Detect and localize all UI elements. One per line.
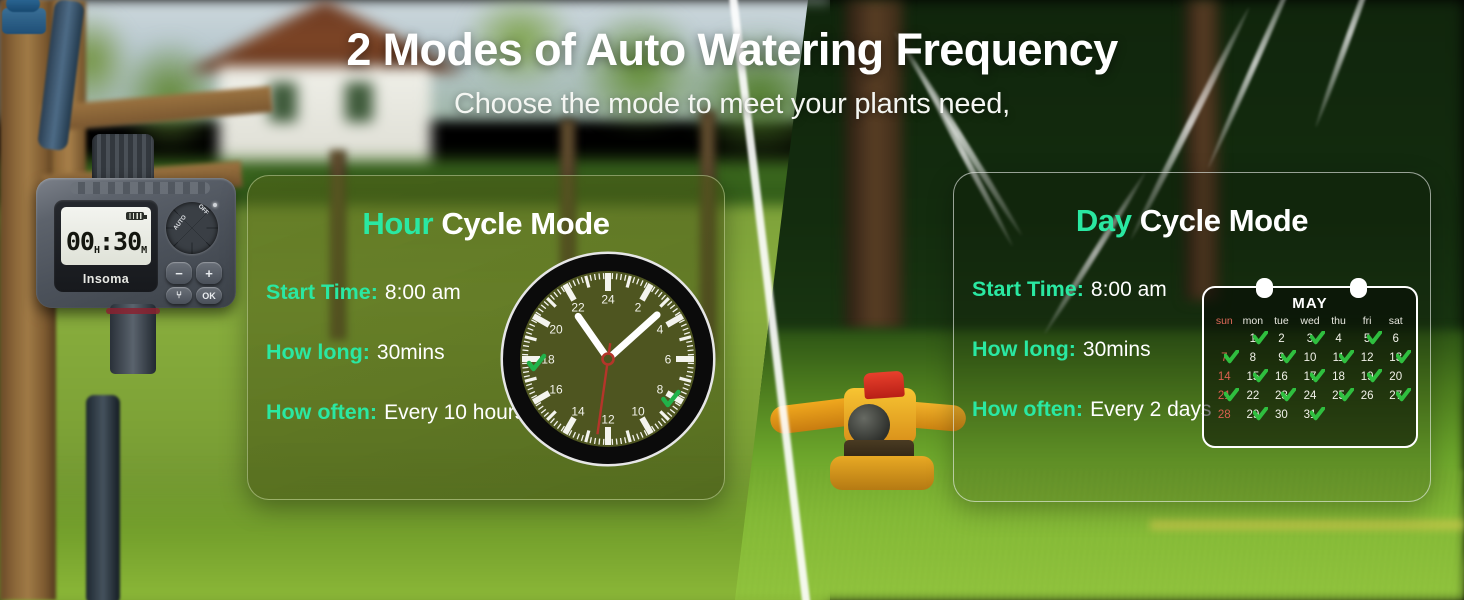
lcd-minutes-unit: M [141, 245, 146, 256]
calendar-day-cell[interactable]: 18 [1324, 368, 1353, 387]
calendar-day-number: 21 [1218, 390, 1231, 402]
calendar-day-number: 1 [1250, 333, 1256, 345]
calendar-day-cell[interactable]: 27 [1381, 387, 1410, 406]
outlet-connector [110, 304, 156, 374]
calendar-day-number: 5 [1364, 333, 1370, 345]
calendar-day-cell[interactable]: 1 [1239, 330, 1268, 349]
grass-highlight-strip [1150, 520, 1464, 530]
page-title: 2 Modes of Auto Watering Frequency [0, 24, 1464, 76]
card-title-rest: Cycle Mode [1132, 203, 1308, 238]
calendar-day-cell[interactable]: 22 [1239, 387, 1268, 406]
calendar-day-number: 20 [1389, 371, 1402, 383]
day-cycle-mode-card: Day Cycle Mode Start Time: 8:00 am How l… [953, 172, 1431, 502]
calendar-binder-dot [1256, 278, 1273, 298]
calendar-day-cell[interactable]: 6 [1381, 330, 1410, 349]
battery-icon [126, 212, 144, 220]
calendar-day-number: 25 [1332, 390, 1345, 402]
row-label: How long: [266, 340, 370, 365]
sprinkler-cap [863, 371, 905, 400]
calendar-day-cell[interactable]: 20 [1381, 368, 1410, 387]
clock-hour-label: 6 [665, 353, 672, 367]
calendar-weekday-header: wed [1296, 315, 1325, 330]
calendar-day-number: 17 [1304, 371, 1317, 383]
calendar-day-cell[interactable]: 29 [1239, 406, 1268, 425]
calendar-day-number: 10 [1304, 352, 1317, 364]
card-title-hour: Hour Cycle Mode [248, 206, 724, 242]
calendar-weekday-header: mon [1239, 315, 1268, 330]
dial-indicator-dot [213, 203, 217, 207]
row-value: 8:00 am [385, 281, 461, 305]
calendar-day-cell[interactable]: 26 [1353, 387, 1382, 406]
calendar-day-cell[interactable]: 30 [1267, 406, 1296, 425]
calendar-month-label: MAY [1204, 295, 1416, 312]
calendar-empty-cell: . [1210, 330, 1239, 349]
calendar-day-number: 11 [1333, 352, 1345, 364]
calendar-day-number: 24 [1304, 390, 1317, 402]
ok-button[interactable]: OK [196, 287, 222, 304]
calendar-day-number: 15 [1246, 371, 1259, 383]
calendar-day-cell[interactable]: 25 [1324, 387, 1353, 406]
page-subtitle: Choose the mode to meet your plants need… [0, 88, 1464, 121]
row-label: How often: [972, 397, 1083, 422]
lcd-screen: 00H:30M [61, 207, 151, 265]
row-value: 30mins [377, 341, 445, 365]
calendar-day-cell[interactable]: 12 [1353, 349, 1382, 368]
calendar-day-cell[interactable]: 17 [1296, 368, 1325, 387]
calendar-day-number: 2 [1278, 333, 1284, 345]
clock-hour-label: 20 [549, 323, 563, 337]
device-ridges [70, 182, 210, 194]
calendar-day-number: 30 [1275, 409, 1288, 421]
lcd-hours-unit: H [94, 245, 99, 256]
clock-svg: 24246810121416182022 [500, 251, 716, 467]
lcd-minutes: 30 [113, 227, 141, 256]
calendar-day-number: 22 [1246, 390, 1259, 402]
card-title-rest: Cycle Mode [433, 206, 609, 241]
clock-hour-label: 8 [657, 383, 664, 397]
row-value: 30mins [1083, 338, 1151, 362]
calendar-weekday-header: sun [1210, 315, 1239, 330]
card-title-accent: Hour [362, 206, 433, 241]
row-label: How often: [266, 400, 377, 425]
calendar-day-cell[interactable]: 5 [1353, 330, 1382, 349]
calendar-day-cell[interactable]: 14 [1210, 368, 1239, 387]
calendar-day-number: 19 [1361, 371, 1374, 383]
card-title-day: Day Cycle Mode [954, 203, 1430, 239]
sprinkler [770, 378, 970, 498]
calendar-day-cell[interactable]: 21 [1210, 387, 1239, 406]
calendar-day-number: 28 [1218, 409, 1231, 421]
calendar-day-number: 6 [1393, 333, 1399, 345]
row-value: 8:00 am [1091, 278, 1167, 302]
water-timer-device[interactable]: 00H:30M Insoma AUTO OFF − + ⑂ OK [36, 178, 236, 308]
clock-hour-label: 12 [601, 413, 615, 427]
calendar-day-number: 4 [1335, 333, 1341, 345]
calendar-day-cell[interactable]: 2 [1267, 330, 1296, 349]
calendar-day-cell[interactable]: 23 [1267, 387, 1296, 406]
marketing-banner: 00H:30M Insoma AUTO OFF − + ⑂ OK 2 Modes… [0, 0, 1464, 600]
analog-clock-24h: 24246810121416182022 [500, 251, 716, 467]
lcd-hours: 00 [66, 227, 94, 256]
calendar-day-cell[interactable]: 9 [1267, 349, 1296, 368]
clock-hour-label: 22 [571, 301, 585, 315]
calendar-day-number: 9 [1278, 352, 1284, 364]
clock-hour-label: 14 [571, 404, 585, 418]
clock-hour-label: 16 [549, 383, 563, 397]
calendar-weekday-header: thu [1324, 315, 1353, 330]
row-label: How long: [972, 337, 1076, 362]
sprinkler-base [830, 456, 934, 490]
calendar-weekday-header: tue [1267, 315, 1296, 330]
calendar-day-cell[interactable]: 11 [1324, 349, 1353, 368]
calendar-grid: sunmontuewedthufrisat.123456789101112131… [1204, 312, 1416, 425]
row-label: Start Time: [972, 277, 1084, 302]
calendar-day-cell[interactable]: 19 [1353, 368, 1382, 387]
calendar-day-number: 13 [1389, 352, 1402, 364]
clock-hour-label: 10 [631, 404, 645, 418]
card-title-accent: Day [1076, 203, 1132, 238]
calendar-day-number: 23 [1275, 390, 1288, 402]
lcd-separator: : [99, 227, 113, 256]
hose-lower [86, 395, 120, 600]
calendar-day-cell[interactable]: 7 [1210, 349, 1239, 368]
calendar-day-cell[interactable]: 28 [1210, 406, 1239, 425]
calendar-weekday-header: sat [1381, 315, 1410, 330]
clock-hour-label: 24 [601, 293, 615, 307]
clock-hour-label: 4 [657, 323, 664, 337]
calendar-day-number: 7 [1221, 352, 1227, 364]
calendar-day-number: 12 [1361, 352, 1374, 364]
calendar-day-cell[interactable]: 13 [1381, 349, 1410, 368]
hour-cycle-mode-card: Hour Cycle Mode Start Time: 8:00 am How … [247, 175, 725, 500]
calendar-day-number: 14 [1218, 371, 1231, 383]
calendar-day-number: 29 [1246, 409, 1259, 421]
calendar-day-number: 27 [1389, 390, 1402, 402]
calendar-day-number: 8 [1250, 352, 1256, 364]
calendar-day-cell[interactable]: 15 [1239, 368, 1268, 387]
mode-selector-dial[interactable]: AUTO OFF [166, 202, 218, 254]
faucet-handle [6, 0, 40, 12]
device-front-panel: 00H:30M Insoma [54, 200, 158, 292]
calendar-day-number: 18 [1332, 371, 1345, 383]
calendar-widget: MAY sunmontuewedthufrisat.12345678910111… [1202, 286, 1418, 448]
calendar-weekday-header: fri [1353, 315, 1382, 330]
minus-button[interactable]: − [166, 262, 192, 284]
row-value: Every 2 days [1090, 398, 1211, 422]
calendar-day-cell[interactable]: 16 [1267, 368, 1296, 387]
outlet-ring [106, 308, 160, 314]
calendar-day-number: 16 [1275, 371, 1288, 383]
calendar-day-number: 3 [1307, 333, 1313, 345]
calendar-day-cell[interactable]: 8 [1239, 349, 1268, 368]
brand-label: Insoma [54, 272, 158, 286]
lcd-time-readout: 00H:30M [61, 227, 151, 256]
calendar-binder-dot [1350, 278, 1367, 298]
calendar-day-cell[interactable]: 31 [1296, 406, 1325, 425]
plus-button[interactable]: + [196, 262, 222, 284]
calendar-day-cell[interactable]: 3 [1296, 330, 1325, 349]
calendar-day-number: 31 [1304, 409, 1317, 421]
calendar-day-cell[interactable]: 4 [1324, 330, 1353, 349]
row-label: Start Time: [266, 280, 378, 305]
calendar-day-number: 26 [1361, 390, 1374, 402]
clock-hour-label: 2 [635, 301, 642, 315]
calendar-day-cell[interactable]: 24 [1296, 387, 1325, 406]
dial-label-auto: AUTO [173, 214, 188, 231]
faucet-mode-button[interactable]: ⑂ [166, 287, 192, 304]
calendar-day-cell[interactable]: 10 [1296, 349, 1325, 368]
